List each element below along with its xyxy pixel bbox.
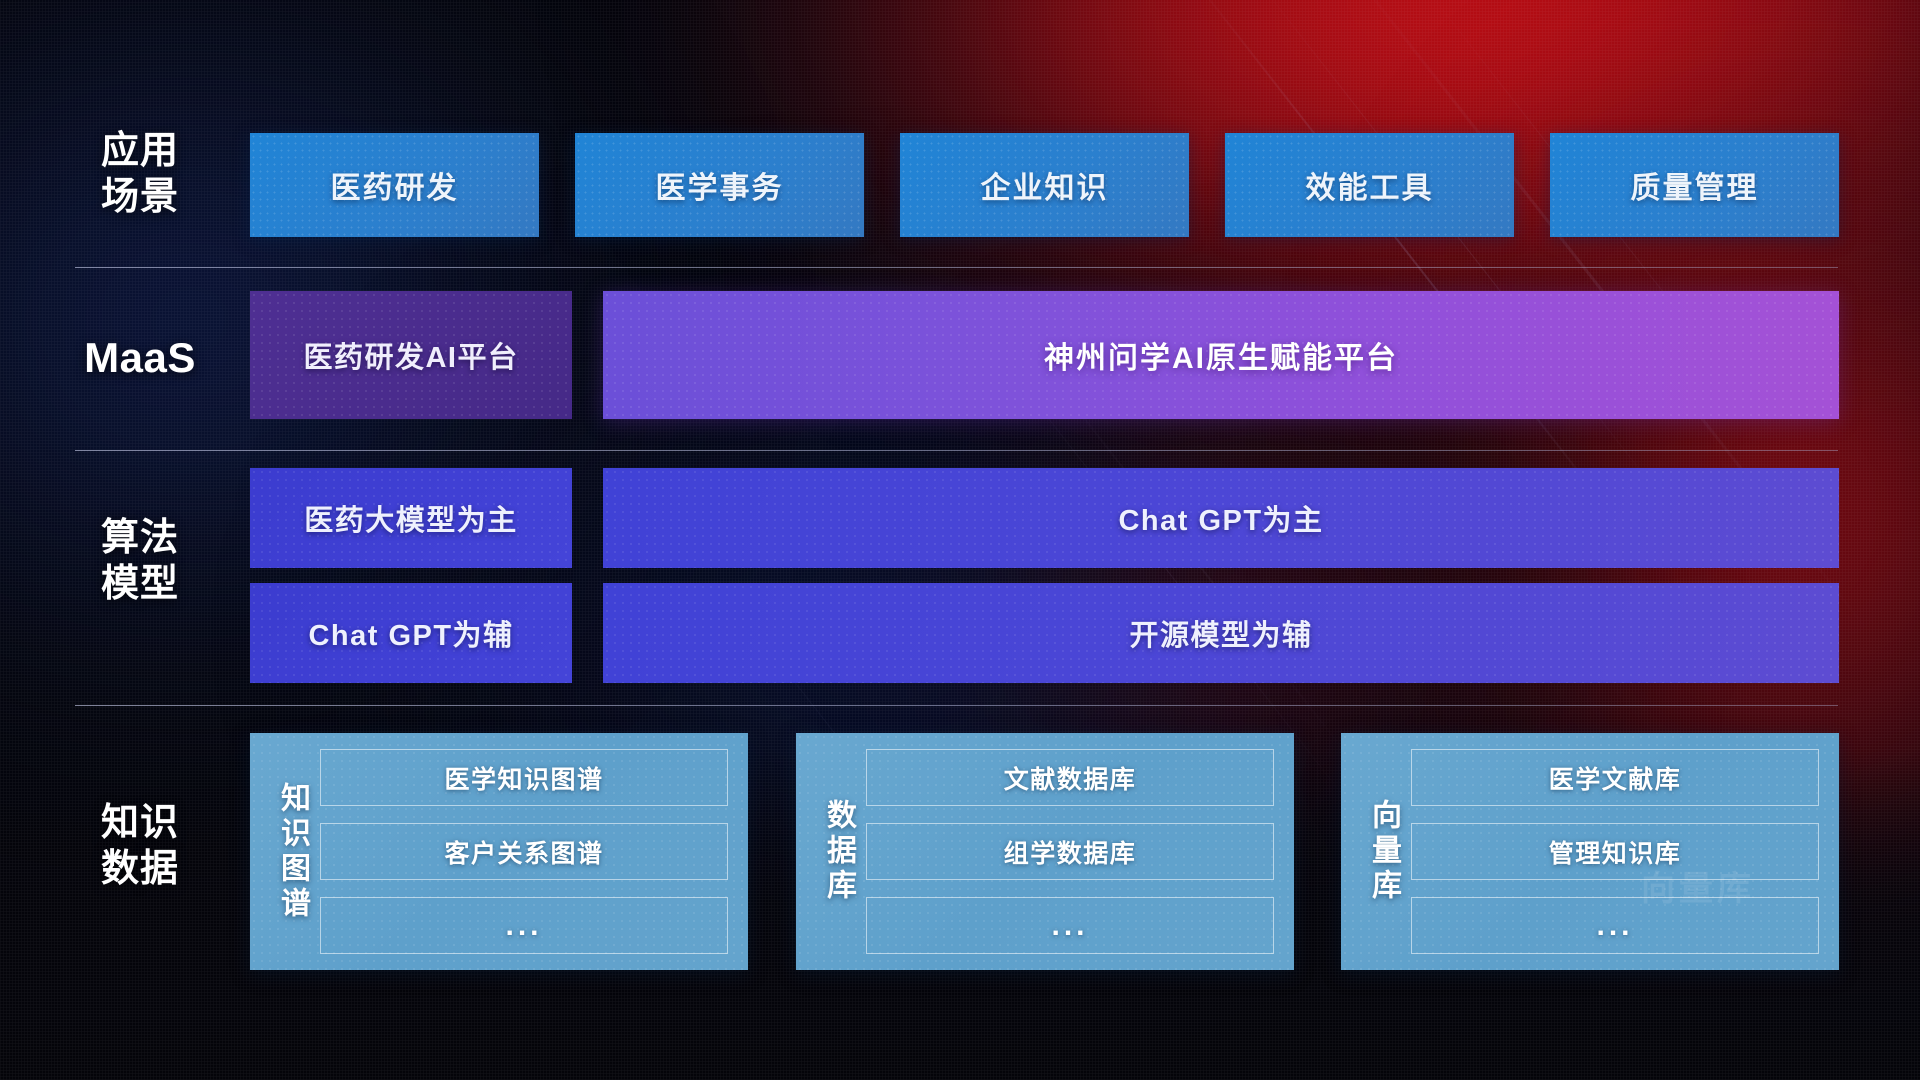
row-label-application-scenario: 应用 场景 (75, 128, 205, 221)
row-label-algorithm-line1: 算法 (75, 515, 205, 561)
knowledge-item-medical-knowledge-graph[interactable]: 医学知识图谱 (320, 749, 728, 806)
knowledge-item-label: 组学数据库 (1004, 834, 1137, 870)
algo-box-label: 医药大模型为主 (304, 497, 518, 539)
row-label-algorithm-line2: 模型 (75, 561, 205, 607)
knowledge-group-knowledge-graph[interactable]: 知识图谱 医学知识图谱 客户关系图谱 ... (250, 733, 748, 970)
maas-box-label: 神州问学AI原生赋能平台 (1044, 333, 1398, 377)
app-box-pharma-rnd[interactable]: 医药研发 (250, 133, 539, 237)
app-box-label: 医药研发 (331, 163, 459, 207)
knowledge-group-title: 知识图谱 (264, 749, 320, 954)
app-box-label: 企业知识 (981, 163, 1109, 207)
knowledge-item-more-database[interactable]: ... (866, 897, 1274, 954)
app-box-label: 医学事务 (656, 163, 784, 207)
maas-box-shenzhou-platform[interactable]: 神州问学AI原生赋能平台 (603, 291, 1839, 419)
knowledge-item-management-knowledge-store[interactable]: 管理知识库 (1411, 823, 1819, 880)
algo-box-pharma-llm-primary[interactable]: 医药大模型为主 (250, 468, 572, 568)
knowledge-item-label: 医学知识图谱 (444, 760, 603, 796)
row-label-knowledge-line2: 数据 (75, 846, 205, 892)
knowledge-item-label: ... (505, 909, 542, 943)
knowledge-item-label: ... (1596, 909, 1633, 943)
app-box-medical-affairs[interactable]: 医学事务 (575, 133, 864, 237)
divider-maas-algorithm (75, 450, 1838, 451)
knowledge-item-literature-database[interactable]: 文献数据库 (866, 749, 1274, 806)
knowledge-group-title: 数据库 (810, 749, 866, 954)
row-label-algorithm-model: 算法 模型 (75, 515, 205, 608)
app-box-label: 效能工具 (1306, 163, 1434, 207)
divider-algorithm-knowledge (75, 705, 1838, 706)
algo-box-label: Chat GPT为辅 (308, 612, 513, 654)
maas-box-label: 医药研发AI平台 (303, 334, 518, 376)
knowledge-item-more-vector[interactable]: ... (1411, 897, 1819, 954)
app-box-label: 质量管理 (1631, 163, 1759, 207)
knowledge-group-items: 医学文献库 管理知识库 ... (1411, 749, 1819, 954)
knowledge-item-label: 客户关系图谱 (444, 834, 603, 870)
maas-box-pharma-ai-platform[interactable]: 医药研发AI平台 (250, 291, 572, 419)
divider-application-maas (75, 267, 1838, 268)
knowledge-item-label: 管理知识库 (1549, 834, 1682, 870)
row-label-knowledge-line1: 知识 (75, 800, 205, 846)
row-label-maas: MaaS (75, 332, 205, 383)
row-label-application-line2: 场景 (75, 174, 205, 220)
algo-box-opensource-secondary[interactable]: 开源模型为辅 (603, 583, 1839, 683)
knowledge-item-omics-database[interactable]: 组学数据库 (866, 823, 1274, 880)
algo-box-label: 开源模型为辅 (1129, 612, 1312, 654)
knowledge-group-title: 向量库 (1355, 749, 1411, 954)
row-label-application-line1: 应用 (75, 128, 205, 174)
knowledge-item-customer-relation-graph[interactable]: 客户关系图谱 (320, 823, 728, 880)
knowledge-item-label: ... (1051, 909, 1088, 943)
algo-box-chatgpt-secondary[interactable]: Chat GPT为辅 (250, 583, 572, 683)
knowledge-group-items: 文献数据库 组学数据库 ... (866, 749, 1274, 954)
knowledge-item-medical-literature-store[interactable]: 医学文献库 (1411, 749, 1819, 806)
knowledge-group-items: 医学知识图谱 客户关系图谱 ... (320, 749, 728, 954)
app-box-enterprise-knowledge[interactable]: 企业知识 (900, 133, 1189, 237)
knowledge-group-database[interactable]: 数据库 文献数据库 组学数据库 ... (796, 733, 1294, 970)
algo-box-chatgpt-primary[interactable]: Chat GPT为主 (603, 468, 1839, 568)
knowledge-item-label: 文献数据库 (1004, 760, 1137, 796)
algo-box-label: Chat GPT为主 (1118, 497, 1323, 539)
knowledge-item-label: 医学文献库 (1549, 760, 1682, 796)
knowledge-item-more-graph[interactable]: ... (320, 897, 728, 954)
app-box-efficiency-tools[interactable]: 效能工具 (1225, 133, 1514, 237)
row-label-knowledge-data: 知识 数据 (75, 800, 205, 893)
knowledge-group-vector-store[interactable]: 向量库 向量库 医学文献库 管理知识库 ... (1341, 733, 1839, 970)
row-label-maas-text: MaaS (75, 332, 205, 383)
app-box-quality-management[interactable]: 质量管理 (1550, 133, 1839, 237)
